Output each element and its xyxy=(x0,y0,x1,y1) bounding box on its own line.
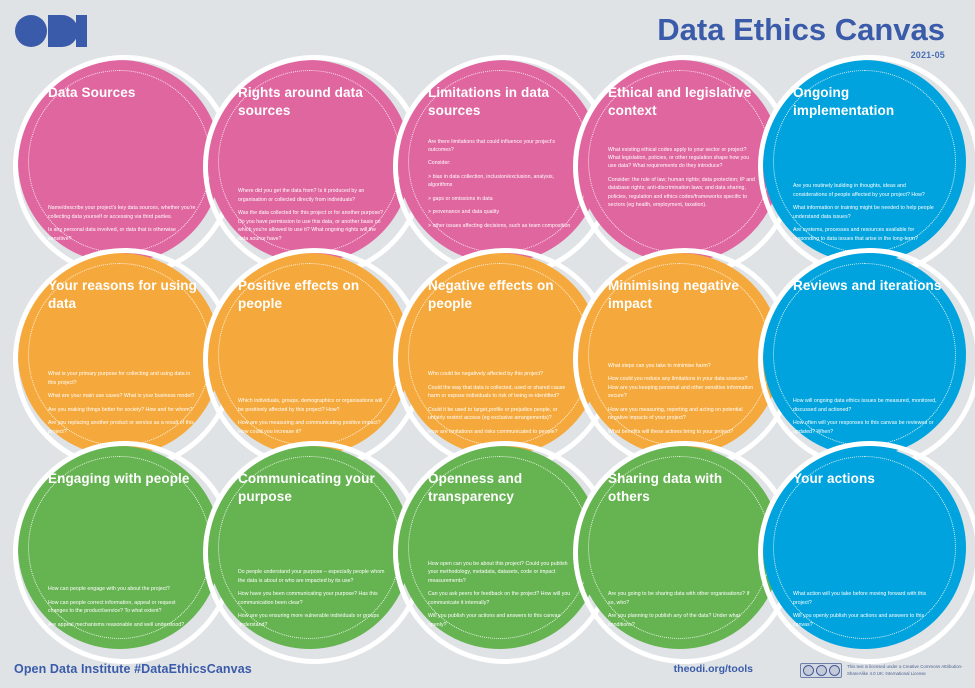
card-body: Which individuals, groups, demographics … xyxy=(238,397,386,442)
canvas-card-data-sources[interactable]: Data Sources Name/describe your project'… xyxy=(18,60,221,263)
card-body-line: Was the data collected for this project … xyxy=(238,209,386,243)
canvas-card-sharing-data-with-others[interactable]: Sharing data with others Are you going t… xyxy=(578,446,781,649)
card-body-line: How are you measuring and communicating … xyxy=(238,419,386,436)
canvas-card-reviews-and-iterations[interactable]: Reviews and iterations How will ongoing … xyxy=(763,253,966,456)
creative-commons-icon xyxy=(800,663,842,678)
page-footer: Open Data Institute #DataEthicsCanvas th… xyxy=(0,646,975,688)
card-body: How open can you be about this project? … xyxy=(428,560,576,635)
card-body-line: Are you planning to publish any of the d… xyxy=(608,612,756,629)
card-body: Who could be negatively affected by this… xyxy=(428,370,576,442)
page-header: Data Ethics Canvas 2021-05 xyxy=(0,0,975,72)
card-body: What action will you take before moving … xyxy=(793,590,941,635)
card-body-line: What steps can you take to minimise harm… xyxy=(608,362,756,370)
data-ethics-canvas-page: Data Ethics Canvas 2021-05 Data Sources … xyxy=(0,0,975,688)
canvas-card-minimising-negative-impact[interactable]: Minimising negative impact What steps ca… xyxy=(578,253,781,456)
version-label: 2021-05 xyxy=(657,50,945,60)
card-body-line: Consider: xyxy=(428,159,576,167)
card-body: Are you going to be sharing data with ot… xyxy=(608,590,756,635)
card-title: Engaging with people xyxy=(48,470,202,488)
canvas-grid: Data Sources Name/describe your project'… xyxy=(0,60,975,650)
card-body-line: Do people understand your purpose – espe… xyxy=(238,568,386,585)
card-title: Rights around data sources xyxy=(238,84,392,120)
card-body-line: How are you ensuring more vulnerable ind… xyxy=(238,612,386,629)
canvas-card-rights-around-data-sources[interactable]: Rights around data sources Where did you… xyxy=(208,60,411,263)
card-title: Sharing data with others xyxy=(608,470,762,506)
card-body-line: What are your main use cases? What is yo… xyxy=(48,392,196,400)
card-title: Negative effects on people xyxy=(428,277,582,313)
card-body-line: Who could be negatively affected by this… xyxy=(428,370,576,378)
card-body: What is your primary purpose for collect… xyxy=(48,370,196,442)
card-body-line: Will you openly publish your actions and… xyxy=(793,612,941,629)
odi-logo xyxy=(14,13,98,49)
card-body-line: What is your primary purpose for collect… xyxy=(48,370,196,387)
card-title: Reviews and iterations xyxy=(793,277,947,295)
card-body-line: Are systems, processes and resources ava… xyxy=(793,226,941,243)
card-body-line: What action will you take before moving … xyxy=(793,590,941,607)
canvas-card-openness-and-transparency[interactable]: Openness and transparency How open can y… xyxy=(398,446,601,649)
canvas-card-ethical-and-legislative-context[interactable]: Ethical and legislative context What exi… xyxy=(578,60,781,263)
card-title: Limitations in data sources xyxy=(428,84,582,120)
license-block: This text is licensed under a Creative C… xyxy=(800,663,967,678)
cc-by-icon xyxy=(816,665,827,676)
canvas-row-3: Engaging with people How can people enga… xyxy=(0,446,975,646)
card-body: Where did you get the data from? Is it p… xyxy=(238,187,386,249)
card-title: Ethical and legislative context xyxy=(608,84,762,120)
tools-link[interactable]: theodi.org/tools xyxy=(674,663,753,675)
card-body: Are you routinely building in thoughts, … xyxy=(793,182,941,249)
card-body-line: How open can you be about this project? … xyxy=(428,560,576,585)
cc-sa-icon xyxy=(829,665,840,676)
title-block: Data Ethics Canvas 2021-05 xyxy=(657,14,945,60)
card-body-line: > gaps or omissions in data xyxy=(428,195,576,203)
card-body-line: Could it be used to target,profile or pr… xyxy=(428,406,576,423)
card-body-line: Are you replacing another product or ser… xyxy=(48,419,196,436)
card-body: Name/describe your project's key data so… xyxy=(48,204,196,249)
card-body-line: Are there limitations that could influen… xyxy=(428,138,576,155)
card-body-line: Which individuals, groups, demographics … xyxy=(238,397,386,414)
card-body-line: How can people engage with you about the… xyxy=(48,585,196,593)
card-title: Your actions xyxy=(793,470,947,488)
card-body-line: Are you going to be sharing data with ot… xyxy=(608,590,756,607)
license-text: This text is licensed under a Creative C… xyxy=(847,664,967,678)
odi-logo-icon xyxy=(14,13,98,49)
footer-org-hashtag: Open Data Institute #DataEthicsCanvas xyxy=(14,662,252,676)
card-body-line: How will ongoing data ethics issues be m… xyxy=(793,397,941,414)
card-body-line: What information or training might be ne… xyxy=(793,204,941,221)
canvas-card-negative-effects-on-people[interactable]: Negative effects on people Who could be … xyxy=(398,253,601,456)
card-body-line: > bias in data collection, inclusion/exc… xyxy=(428,173,576,190)
card-body: How will ongoing data ethics issues be m… xyxy=(793,397,941,442)
card-body-line: How are limitations and risks communicat… xyxy=(428,428,576,436)
card-body-line: Where did you get the data from? Is it p… xyxy=(238,187,386,204)
card-body-line: How could you reduce any limitations in … xyxy=(608,375,756,400)
card-body-line: Are you making things better for society… xyxy=(48,406,196,414)
card-body-line: Will you publish your actions and answer… xyxy=(428,612,576,629)
cc-circle-icon xyxy=(803,665,814,676)
canvas-card-your-actions[interactable]: Your actions What action will you take b… xyxy=(763,446,966,649)
card-body-line: Can you ask peers for feedback on the pr… xyxy=(428,590,576,607)
canvas-card-positive-effects-on-people[interactable]: Positive effects on people Which individ… xyxy=(208,253,411,456)
card-title: Positive effects on people xyxy=(238,277,392,313)
canvas-card-your-reasons-for-using-data[interactable]: Your reasons for using data What is your… xyxy=(18,253,221,456)
card-body: Do people understand your purpose – espe… xyxy=(238,568,386,635)
canvas-row-1: Data Sources Name/describe your project'… xyxy=(0,60,975,260)
canvas-row-2: Your reasons for using data What is your… xyxy=(0,253,975,453)
card-body-line: How are you measuring, reporting and act… xyxy=(608,406,756,423)
card-body-line: Are you routinely building in thoughts, … xyxy=(793,182,941,199)
canvas-card-engaging-with-people[interactable]: Engaging with people How can people enga… xyxy=(18,446,221,649)
card-title: Communicating your purpose xyxy=(238,470,392,506)
card-title: Minimising negative impact xyxy=(608,277,762,313)
card-body-line: How can people correct information, appe… xyxy=(48,599,196,616)
card-body-line: Is any personal data involved, or data t… xyxy=(48,226,196,243)
card-body-line: What benefits will these actions bring t… xyxy=(608,428,756,436)
card-body: How can people engage with you about the… xyxy=(48,585,196,635)
card-body: What existing ethical codes apply to you… xyxy=(608,146,756,216)
card-body-line: Are appeal mechanisms reasonable and wel… xyxy=(48,621,196,629)
card-title: Ongoing implementation xyxy=(793,84,947,120)
card-title: Data Sources xyxy=(48,84,202,102)
card-body-line: Could the way that data is collected, us… xyxy=(428,384,576,401)
card-body-line: > other issues affecting decisions, such… xyxy=(428,222,576,230)
card-body-line: Consider: the rule of law; human rights;… xyxy=(608,176,756,210)
card-body: What steps can you take to minimise harm… xyxy=(608,362,756,442)
page-title: Data Ethics Canvas xyxy=(657,14,945,47)
card-body-line: How have you been communicating your pur… xyxy=(238,590,386,607)
card-body: Are there limitations that could influen… xyxy=(428,138,576,236)
card-title: Your reasons for using data xyxy=(48,277,202,313)
canvas-card-ongoing-implementation[interactable]: Ongoing implementation Are you routinely… xyxy=(763,60,966,263)
card-body-line: What existing ethical codes apply to you… xyxy=(608,146,756,171)
card-body-line: How often will your responses to this ca… xyxy=(793,419,941,436)
card-title: Openness and transparency xyxy=(428,470,582,506)
card-body-line: Name/describe your project's key data so… xyxy=(48,204,196,221)
card-body-line: > provenance and data quality xyxy=(428,208,576,216)
canvas-card-limitations-in-data-sources[interactable]: Limitations in data sources Are there li… xyxy=(398,60,601,263)
canvas-card-communicating-your-purpose[interactable]: Communicating your purpose Do people und… xyxy=(208,446,411,649)
